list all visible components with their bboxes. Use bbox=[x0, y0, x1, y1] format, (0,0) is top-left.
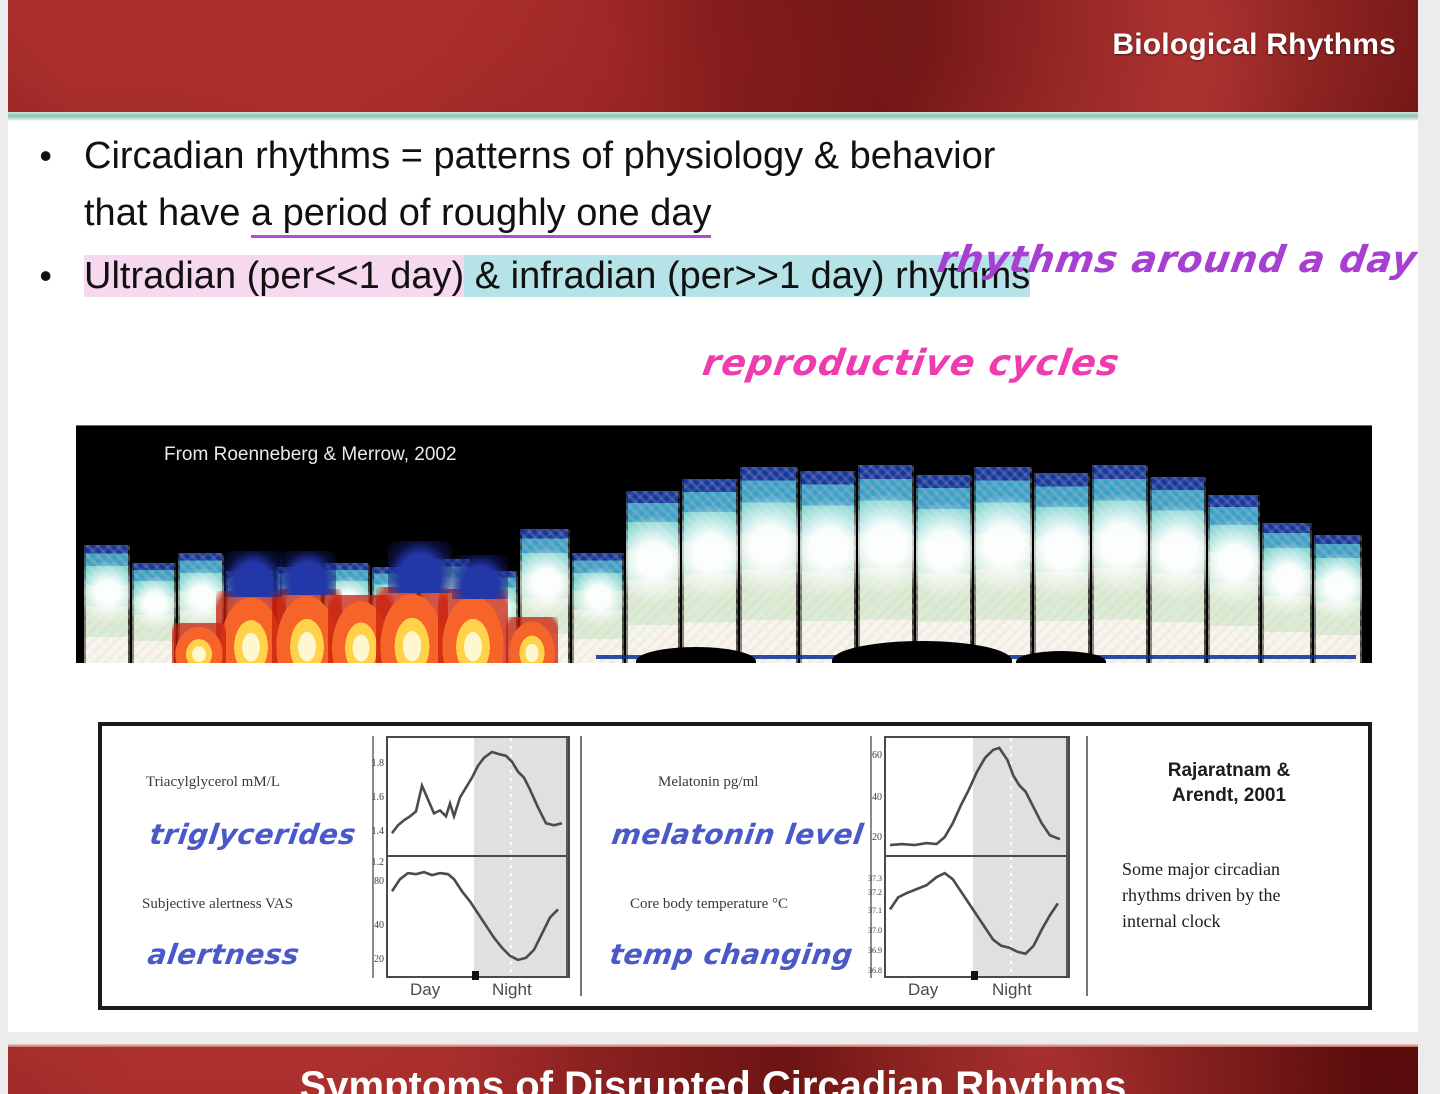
tick: 60 bbox=[872, 750, 882, 761]
curve-triacylglycerol bbox=[388, 738, 568, 855]
actogram-caption: From Roenneberg & Merrow, 2002 bbox=[164, 444, 457, 466]
handwritten-melatonin-level: melatonin level bbox=[610, 818, 866, 851]
chart-frame bbox=[884, 736, 1070, 978]
curve-melatonin bbox=[886, 738, 1068, 855]
slide-biological-rhythms: Biological Rhythms • Circadian rhythms =… bbox=[8, 0, 1418, 1032]
handwritten-alertness: alertness bbox=[146, 938, 302, 971]
tick: 37.2 bbox=[868, 888, 882, 897]
handwritten-annotation-reproductive-cycles: reproductive cycles bbox=[700, 343, 1123, 384]
citation-line-1: Rajaratnam & bbox=[1168, 760, 1291, 781]
next-slide-top-rule bbox=[8, 1044, 1418, 1047]
tick: 20 bbox=[374, 954, 384, 965]
x-label-day: Day bbox=[908, 980, 938, 1000]
bullet-marker: • bbox=[8, 248, 66, 304]
handwritten-temp-changing: temp changing bbox=[608, 938, 855, 971]
figure-panel-rajaratnam: Triacylglycerol mM/L triglycerides Subje… bbox=[98, 722, 1372, 1010]
figure-column-middle: Melatonin pg/ml melatonin level Core bod… bbox=[588, 726, 1078, 1006]
slide-banner: Biological Rhythms bbox=[8, 0, 1418, 112]
tick: 1.4 bbox=[372, 826, 385, 837]
bullet-line-2-underlined: a period of roughly one day bbox=[251, 192, 712, 238]
actogram-image: From Roenneberg & Merrow, 2002 bbox=[76, 425, 1372, 663]
panel-divider-1 bbox=[580, 736, 582, 996]
label-triacylglycerol: Triacylglycerol mM/L bbox=[146, 774, 280, 791]
tick: 20 bbox=[872, 832, 882, 843]
banner-divider bbox=[8, 112, 1418, 121]
y-axis-ticks-left: 1.8 1.6 1.4 1.2 80 40 20 bbox=[360, 736, 386, 1004]
citation-line-2: Arendt, 2001 bbox=[1172, 785, 1286, 806]
tick: 1.6 bbox=[372, 792, 385, 803]
chart-right-rule bbox=[1066, 738, 1068, 976]
handwritten-triglycerides: triglycerides bbox=[148, 818, 359, 851]
panel-divider-2 bbox=[1086, 736, 1088, 996]
tick: 37.3 bbox=[868, 874, 882, 883]
figure-column-left: Triacylglycerol mM/L triglycerides Subje… bbox=[102, 726, 580, 1006]
curve-core-temperature bbox=[886, 857, 1068, 976]
tick: 37.0 bbox=[868, 926, 882, 935]
day-night-boundary-marker bbox=[971, 971, 978, 980]
chart-panel-alertness bbox=[388, 857, 568, 976]
tick: 80 bbox=[374, 876, 384, 887]
label-subjective-alertness: Subjective alertness VAS bbox=[142, 896, 293, 913]
x-axis-day-night: Day Night bbox=[386, 978, 570, 1004]
x-axis-day-night: Day Night bbox=[884, 978, 1070, 1004]
curve-alertness bbox=[388, 857, 568, 976]
x-label-day: Day bbox=[410, 980, 440, 1000]
tick: 37.1 bbox=[868, 906, 882, 915]
bullet-line-2-plain: that have bbox=[84, 192, 251, 234]
handwritten-annotation-rhythms-around-a-day: rhythms around a day bbox=[935, 238, 1418, 281]
next-slide-banner: Symptoms of Disrupted Circadian Rhythms bbox=[8, 1044, 1418, 1094]
chart-melatonin-temperature: 60 40 20 37.3 37.2 37.1 37.0 36.9 36.8 bbox=[858, 736, 1070, 1004]
bullet-item-circadian: • Circadian rhythms = patterns of physio… bbox=[8, 128, 1418, 242]
tick: 40 bbox=[374, 920, 384, 931]
highlight-ultradian: Ultradian (per<<1 day) bbox=[84, 255, 464, 297]
bullet-line-1: Circadian rhythms = patterns of physiolo… bbox=[66, 128, 1418, 185]
label-melatonin: Melatonin pg/ml bbox=[658, 774, 758, 791]
y-axis-ticks-right: 60 40 20 37.3 37.2 37.1 37.0 36.9 36.8 bbox=[858, 736, 884, 1004]
tick: 36.8 bbox=[868, 966, 882, 975]
tick: 36.9 bbox=[868, 946, 882, 955]
bullet-marker: • bbox=[8, 128, 66, 184]
chart-right-rule bbox=[566, 738, 568, 976]
chart-frame bbox=[386, 736, 570, 978]
chart-panel-triacylglycerol bbox=[388, 738, 568, 857]
citation-description: Some major circadian rhythms driven by t… bbox=[1122, 856, 1332, 934]
figure-column-right: Rajaratnam & Arendt, 2001 Some major cir… bbox=[1094, 726, 1368, 1006]
tick: 1.2 bbox=[372, 857, 385, 868]
label-core-body-temperature: Core body temperature °C bbox=[630, 896, 788, 913]
slide-next-preview[interactable]: Symptoms of Disrupted Circadian Rhythms bbox=[8, 1044, 1418, 1094]
chart-panel-melatonin bbox=[886, 738, 1068, 857]
tick: 1.8 bbox=[372, 758, 385, 769]
day-night-boundary-marker bbox=[472, 971, 479, 980]
chart-triacylglycerol-alertness: 1.8 1.6 1.4 1.2 80 40 20 bbox=[360, 736, 570, 1004]
citation-title: Rajaratnam & Arendt, 2001 bbox=[1114, 758, 1344, 808]
next-slide-title: Symptoms of Disrupted Circadian Rhythms bbox=[8, 1064, 1418, 1094]
x-label-night: Night bbox=[992, 980, 1032, 1000]
slide-viewer: Biological Rhythms • Circadian rhythms =… bbox=[0, 0, 1440, 1094]
x-label-night: Night bbox=[492, 980, 532, 1000]
page-title: Biological Rhythms bbox=[1112, 28, 1396, 62]
bullet-line-2: that have a period of roughly one day bbox=[66, 185, 1418, 242]
tick: 40 bbox=[872, 792, 882, 803]
chart-panel-core-temperature bbox=[886, 857, 1068, 976]
